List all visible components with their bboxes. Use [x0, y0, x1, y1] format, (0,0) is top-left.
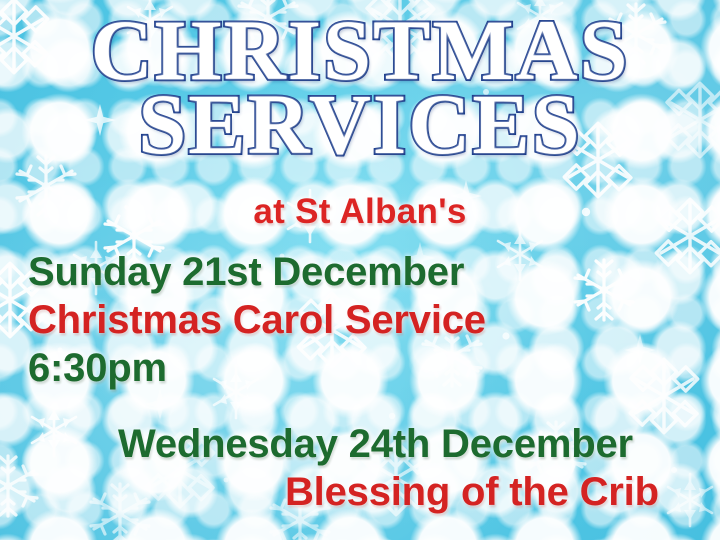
event-1-date: Sunday 21st December: [28, 252, 464, 292]
cropped-bottom-line: [0, 524, 720, 540]
christmas-services-poster: CHRISTMAS SERVICES at St Alban's Sunday …: [0, 0, 720, 540]
event-2-name: Blessing of the Crib: [285, 472, 659, 512]
event-2-date: Wednesday 24th December: [118, 424, 633, 464]
event-1-name: Christmas Carol Service: [28, 300, 486, 340]
event-1-time: 6:30pm: [28, 348, 167, 388]
poster-subtitle-venue: at St Alban's: [0, 192, 720, 232]
title-line-2: SERVICES: [0, 88, 720, 162]
poster-title: CHRISTMAS SERVICES: [0, 14, 720, 162]
